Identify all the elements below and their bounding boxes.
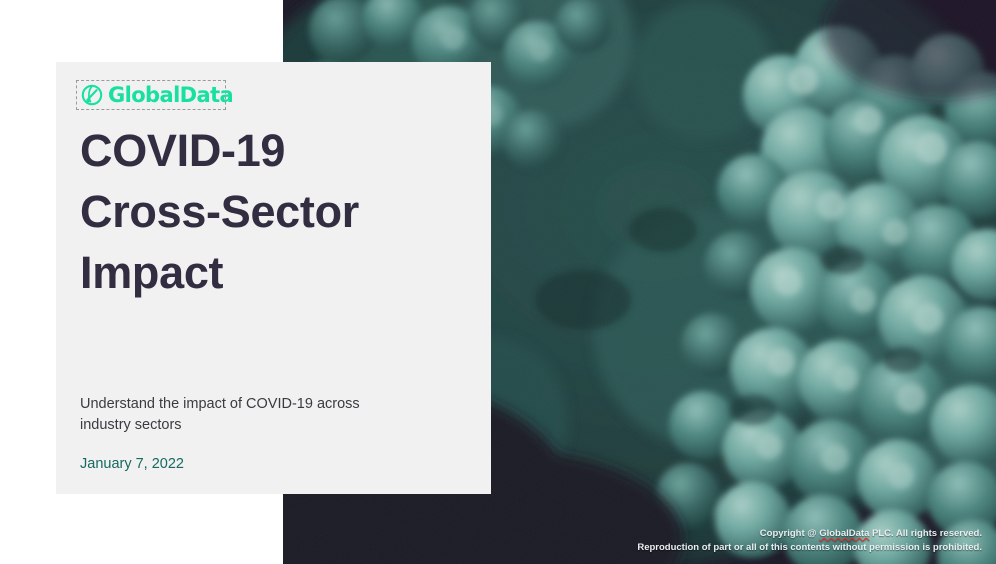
presentation-slide: GlobalData COVID-19 Cross-Sector Impact … [0,0,996,564]
subtitle-text: Understand the impact of COVID-19 across… [80,394,410,436]
globaldata-logo[interactable]: GlobalData [76,80,226,110]
copyright-line-2: Reproduction of part or all of this cont… [637,541,982,555]
copyright-prefix: Copyright @ [760,528,819,539]
copyright-line-1: Copyright @ GlobalData PLC. All rights r… [637,527,982,541]
title-content-panel: GlobalData COVID-19 Cross-Sector Impact … [56,62,491,494]
globe-slash-icon [80,83,104,107]
copyright-notice: Copyright @ GlobalData PLC. All rights r… [637,527,982,554]
logo-wordmark: GlobalData [108,85,233,106]
publication-date: January 7, 2022 [80,454,184,475]
copyright-company-name: GlobalData [819,528,869,539]
copyright-suffix: PLC. All rights reserved. [869,528,982,539]
page-title: COVID-19 Cross-Sector Impact [80,120,410,303]
